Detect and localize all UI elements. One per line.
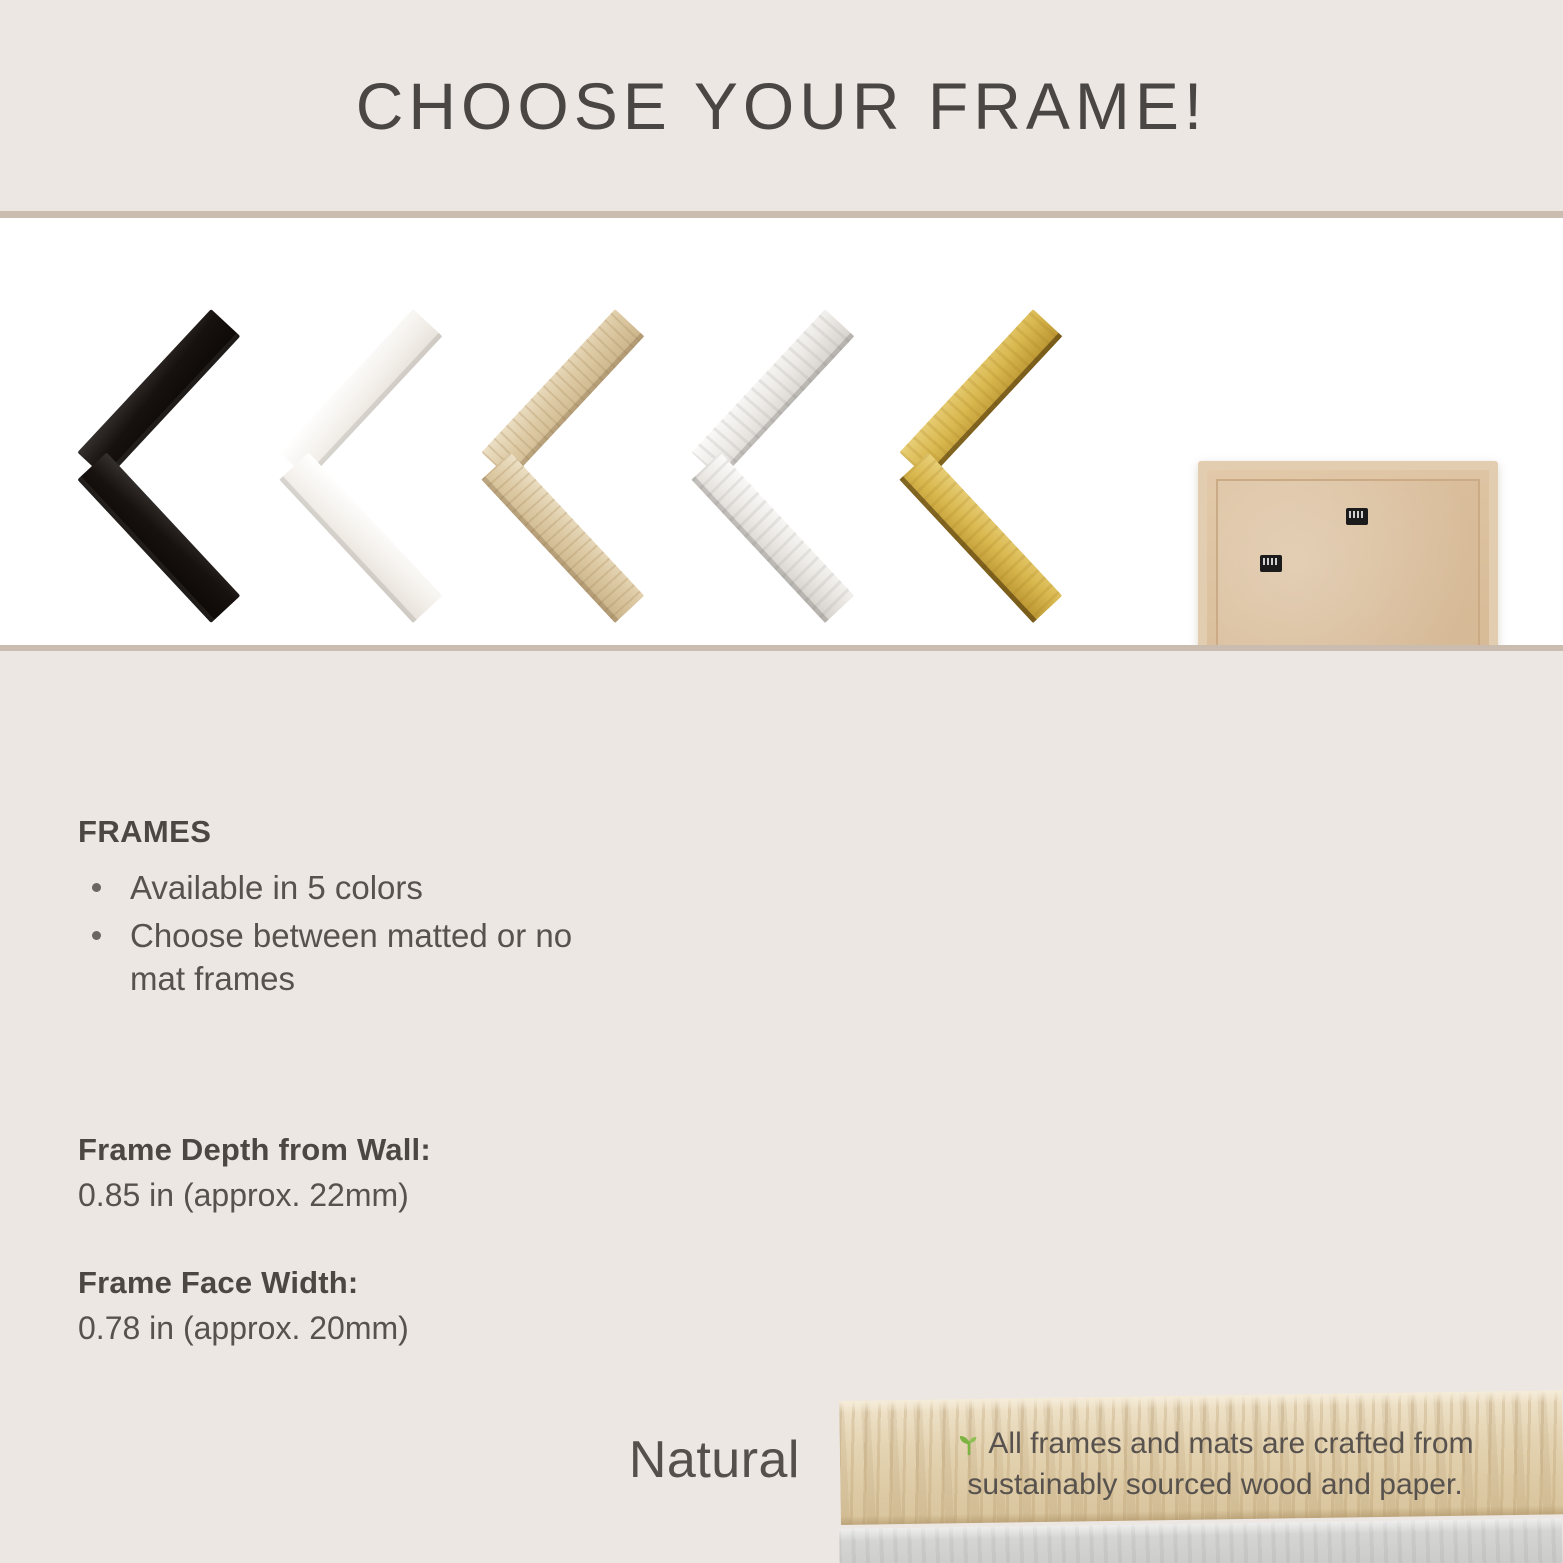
gold-frame-corner[interactable]	[908, 338, 1118, 628]
sustainability-note: All frames and mats are crafted from sus…	[910, 1424, 1520, 1506]
corner-arm-lower	[77, 452, 240, 623]
bar-top-bevel	[839, 1390, 1562, 1413]
corner-arm-upper	[691, 309, 854, 480]
corner-arm-lower	[481, 452, 644, 623]
corner-arm-lower	[691, 452, 854, 623]
spec-label: Frame Face Width:	[78, 1265, 598, 1301]
frames-bullet-list: Available in 5 colors Choose between mat…	[78, 866, 598, 1001]
white-frame-corner[interactable]	[288, 338, 498, 628]
details-panel: FRAMES Available in 5 colors Choose betw…	[0, 651, 1563, 1563]
frame-samples-strip	[0, 218, 1563, 651]
frames-info-block: FRAMES Available in 5 colors Choose betw…	[78, 814, 598, 1005]
corner-arm-upper	[481, 309, 644, 480]
corner-arm-upper	[77, 309, 240, 480]
corner-arm-lower	[899, 452, 1062, 623]
corner-arm-upper	[899, 309, 1062, 480]
spec-value: 0.78 in (approx. 20mm)	[78, 1310, 598, 1347]
page-title: CHOOSE YOUR FRAME!	[356, 68, 1208, 144]
sprout-icon	[956, 1427, 982, 1453]
swatch-bar-silver[interactable]	[839, 1518, 1563, 1563]
frames-heading: FRAMES	[78, 814, 598, 850]
spec-value: 0.85 in (approx. 22mm)	[78, 1177, 598, 1214]
header-banner: CHOOSE YOUR FRAME!	[0, 0, 1563, 211]
black-frame-corner[interactable]	[86, 338, 296, 628]
list-item: Available in 5 colors	[78, 866, 598, 910]
swatch-label-silver: Silver	[380, 1558, 800, 1563]
natural-frame-corner[interactable]	[490, 338, 700, 628]
list-item: Choose between matted or no mat frames	[78, 914, 598, 1001]
corner-arm-upper	[279, 309, 442, 480]
divider-top	[0, 211, 1563, 218]
infographic-page: CHOOSE YOUR FRAME!	[0, 0, 1563, 1563]
swatch-label-natural: Natural	[380, 1430, 800, 1490]
spec-frame-face-width: Frame Face Width: 0.78 in (approx. 20mm)	[78, 1265, 598, 1347]
sawtooth-hanger-icon	[1260, 555, 1282, 572]
spec-frame-depth: Frame Depth from Wall: 0.85 in (approx. …	[78, 1132, 598, 1214]
sustainability-text: All frames and mats are crafted from sus…	[967, 1427, 1473, 1501]
spec-label: Frame Depth from Wall:	[78, 1132, 598, 1168]
sawtooth-hanger-icon	[1346, 508, 1368, 525]
corner-arm-lower	[279, 452, 442, 623]
silver-frame-corner[interactable]	[700, 338, 910, 628]
